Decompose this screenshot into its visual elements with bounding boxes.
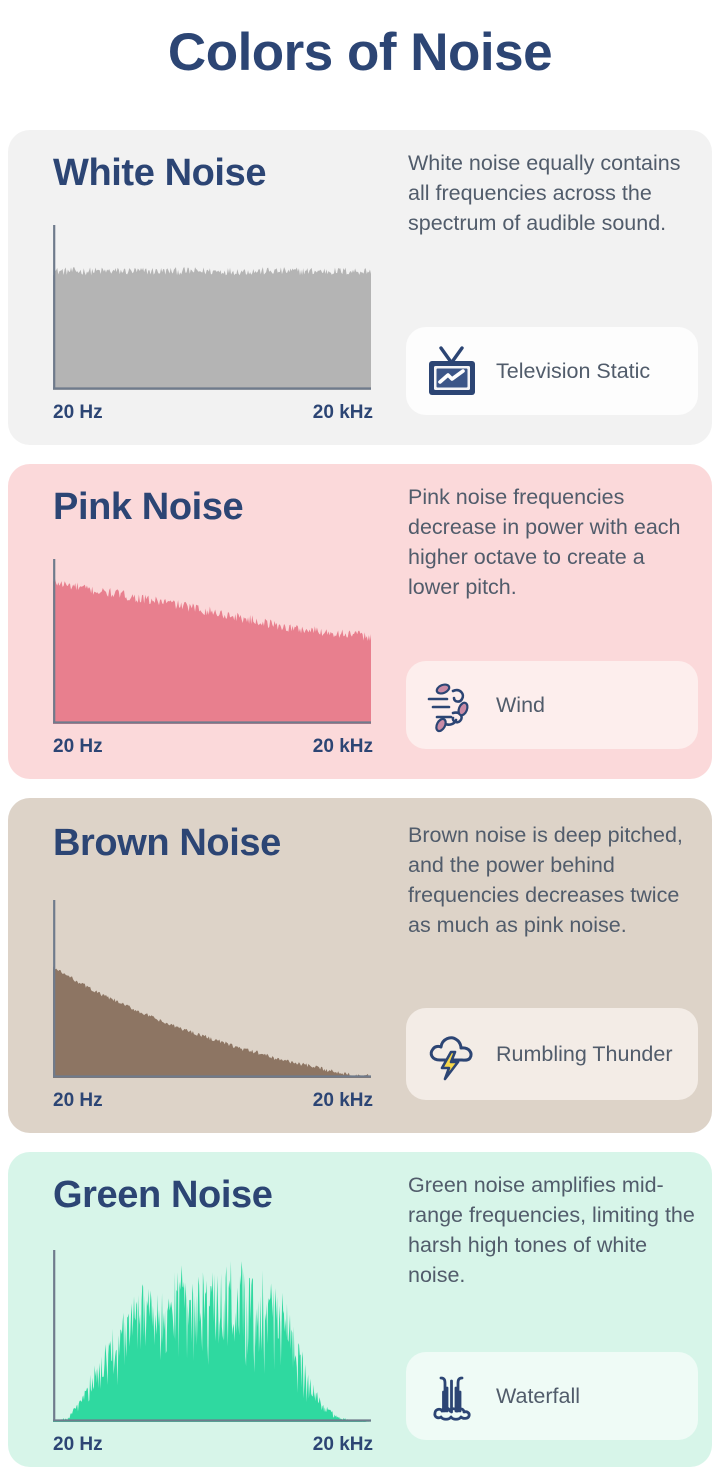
source-pill-wind[interactable]: Wind — [406, 661, 698, 749]
spectrum-chart-brown — [53, 900, 371, 1078]
axis-labels-pink: 20 Hz 20 kHz — [53, 736, 373, 758]
noise-description-white: White noise equally contains all frequen… — [408, 148, 698, 238]
axis-labels-green: 20 Hz 20 kHz — [53, 1434, 373, 1456]
axis-label-low: 20 Hz — [53, 736, 103, 758]
noise-card-brown: Brown Noise 20 Hz 20 kHz Brown noise is … — [8, 798, 712, 1133]
page-title: Colors of Noise — [0, 22, 720, 83]
axis-label-low: 20 Hz — [53, 402, 103, 424]
source-pill-waterfall[interactable]: Waterfall — [406, 1352, 698, 1440]
wind-icon — [420, 674, 484, 736]
noise-title-pink: Pink Noise — [53, 486, 243, 529]
spectrum-chart-white — [53, 225, 371, 390]
axis-label-low: 20 Hz — [53, 1434, 103, 1456]
source-label-television: Television Static — [496, 358, 650, 385]
axis-label-high: 20 kHz — [313, 1434, 373, 1456]
infographic-page: Colors of Noise White Noise 20 Hz 20 kHz… — [0, 0, 720, 1473]
noise-card-green: Green Noise 20 Hz 20 kHz Green noise amp… — [8, 1152, 712, 1467]
axis-label-high: 20 kHz — [313, 1090, 373, 1112]
source-label-waterfall: Waterfall — [496, 1383, 580, 1410]
spectrum-chart-green — [53, 1250, 371, 1422]
axis-labels-brown: 20 Hz 20 kHz — [53, 1090, 373, 1112]
thunder-cloud-icon — [420, 1023, 484, 1085]
noise-title-white: White Noise — [53, 152, 266, 195]
axis-label-high: 20 kHz — [313, 402, 373, 424]
noise-title-brown: Brown Noise — [53, 822, 281, 865]
source-pill-thunder[interactable]: Rumbling Thunder — [406, 1008, 698, 1100]
source-label-wind: Wind — [496, 692, 545, 719]
axis-label-low: 20 Hz — [53, 1090, 103, 1112]
source-pill-television[interactable]: Television Static — [406, 327, 698, 415]
noise-description-brown: Brown noise is deep pitched, and the pow… — [408, 820, 698, 940]
noise-card-pink: Pink Noise 20 Hz 20 kHz Pink noise frequ… — [8, 464, 712, 779]
television-icon — [420, 340, 484, 402]
noise-description-green: Green noise amplifies mid-range frequenc… — [408, 1170, 698, 1290]
noise-description-pink: Pink noise frequencies decrease in power… — [408, 482, 698, 602]
source-label-thunder: Rumbling Thunder — [496, 1041, 672, 1068]
spectrum-chart-pink — [53, 559, 371, 724]
waterfall-icon — [420, 1365, 484, 1427]
noise-card-white: White Noise 20 Hz 20 kHz White noise equ… — [8, 130, 712, 445]
noise-title-green: Green Noise — [53, 1174, 272, 1217]
axis-label-high: 20 kHz — [313, 736, 373, 758]
axis-labels-white: 20 Hz 20 kHz — [53, 402, 373, 424]
